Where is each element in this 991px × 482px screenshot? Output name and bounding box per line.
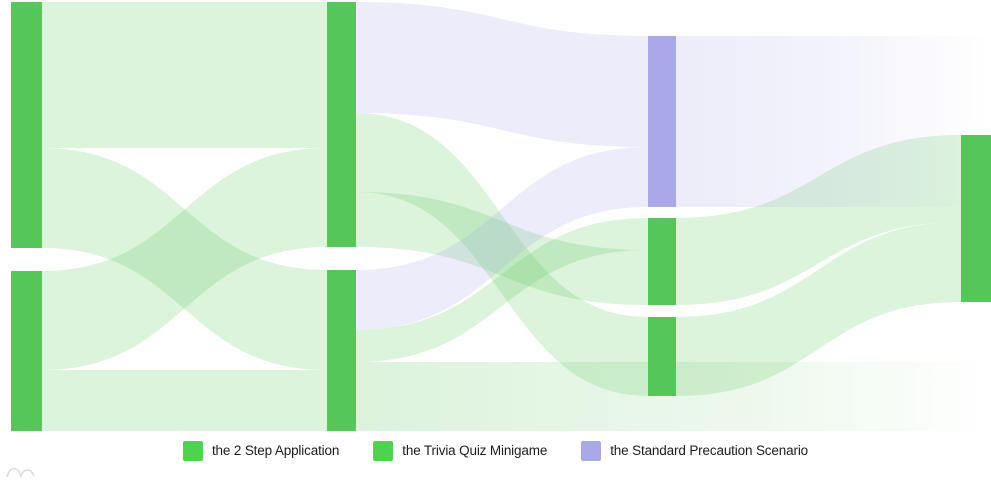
legend-swatch-trivia-quiz-minigame [373, 441, 393, 461]
legend-item-2[interactable]: the Standard Precaution Scenario [581, 441, 808, 461]
legend-label-1: the Trivia Quiz Minigame [402, 441, 547, 461]
legend: the 2 Step Application the Trivia Quiz M… [0, 437, 991, 465]
sankey-link-L1-to-M1[interactable] [42, 2, 327, 74]
sankey-node-L2[interactable] [11, 271, 42, 431]
sankey-node-E1[interactable] [961, 135, 991, 302]
legend-item-0[interactable]: the 2 Step Application [183, 441, 339, 461]
sankey-link-L2-to-M2[interactable] [42, 370, 327, 431]
legend-label-0: the 2 Step Application [212, 441, 339, 461]
corner-curve-glyph [6, 462, 40, 479]
sankey-node-R3[interactable] [648, 317, 676, 396]
sankey-diagram-root: the 2 Step Application the Trivia Quiz M… [0, 0, 991, 482]
legend-swatch-2-step-application [183, 441, 203, 461]
sankey-link-R1-to-fade[interactable] [676, 36, 991, 207]
sankey-node-M2[interactable] [327, 270, 356, 431]
sankey-node-M1[interactable] [327, 2, 356, 247]
sankey-links-layer [42, 2, 991, 431]
sankey-node-R1[interactable] [648, 36, 676, 207]
legend-label-2: the Standard Precaution Scenario [610, 441, 808, 461]
legend-swatch-standard-precaution-scenario [581, 441, 601, 461]
sankey-node-L1[interactable] [11, 2, 42, 248]
sankey-canvas [0, 0, 991, 482]
legend-item-1[interactable]: the Trivia Quiz Minigame [373, 441, 547, 461]
sankey-link-L1-to-M1[interactable] [42, 74, 327, 148]
sankey-node-R2[interactable] [648, 218, 676, 305]
